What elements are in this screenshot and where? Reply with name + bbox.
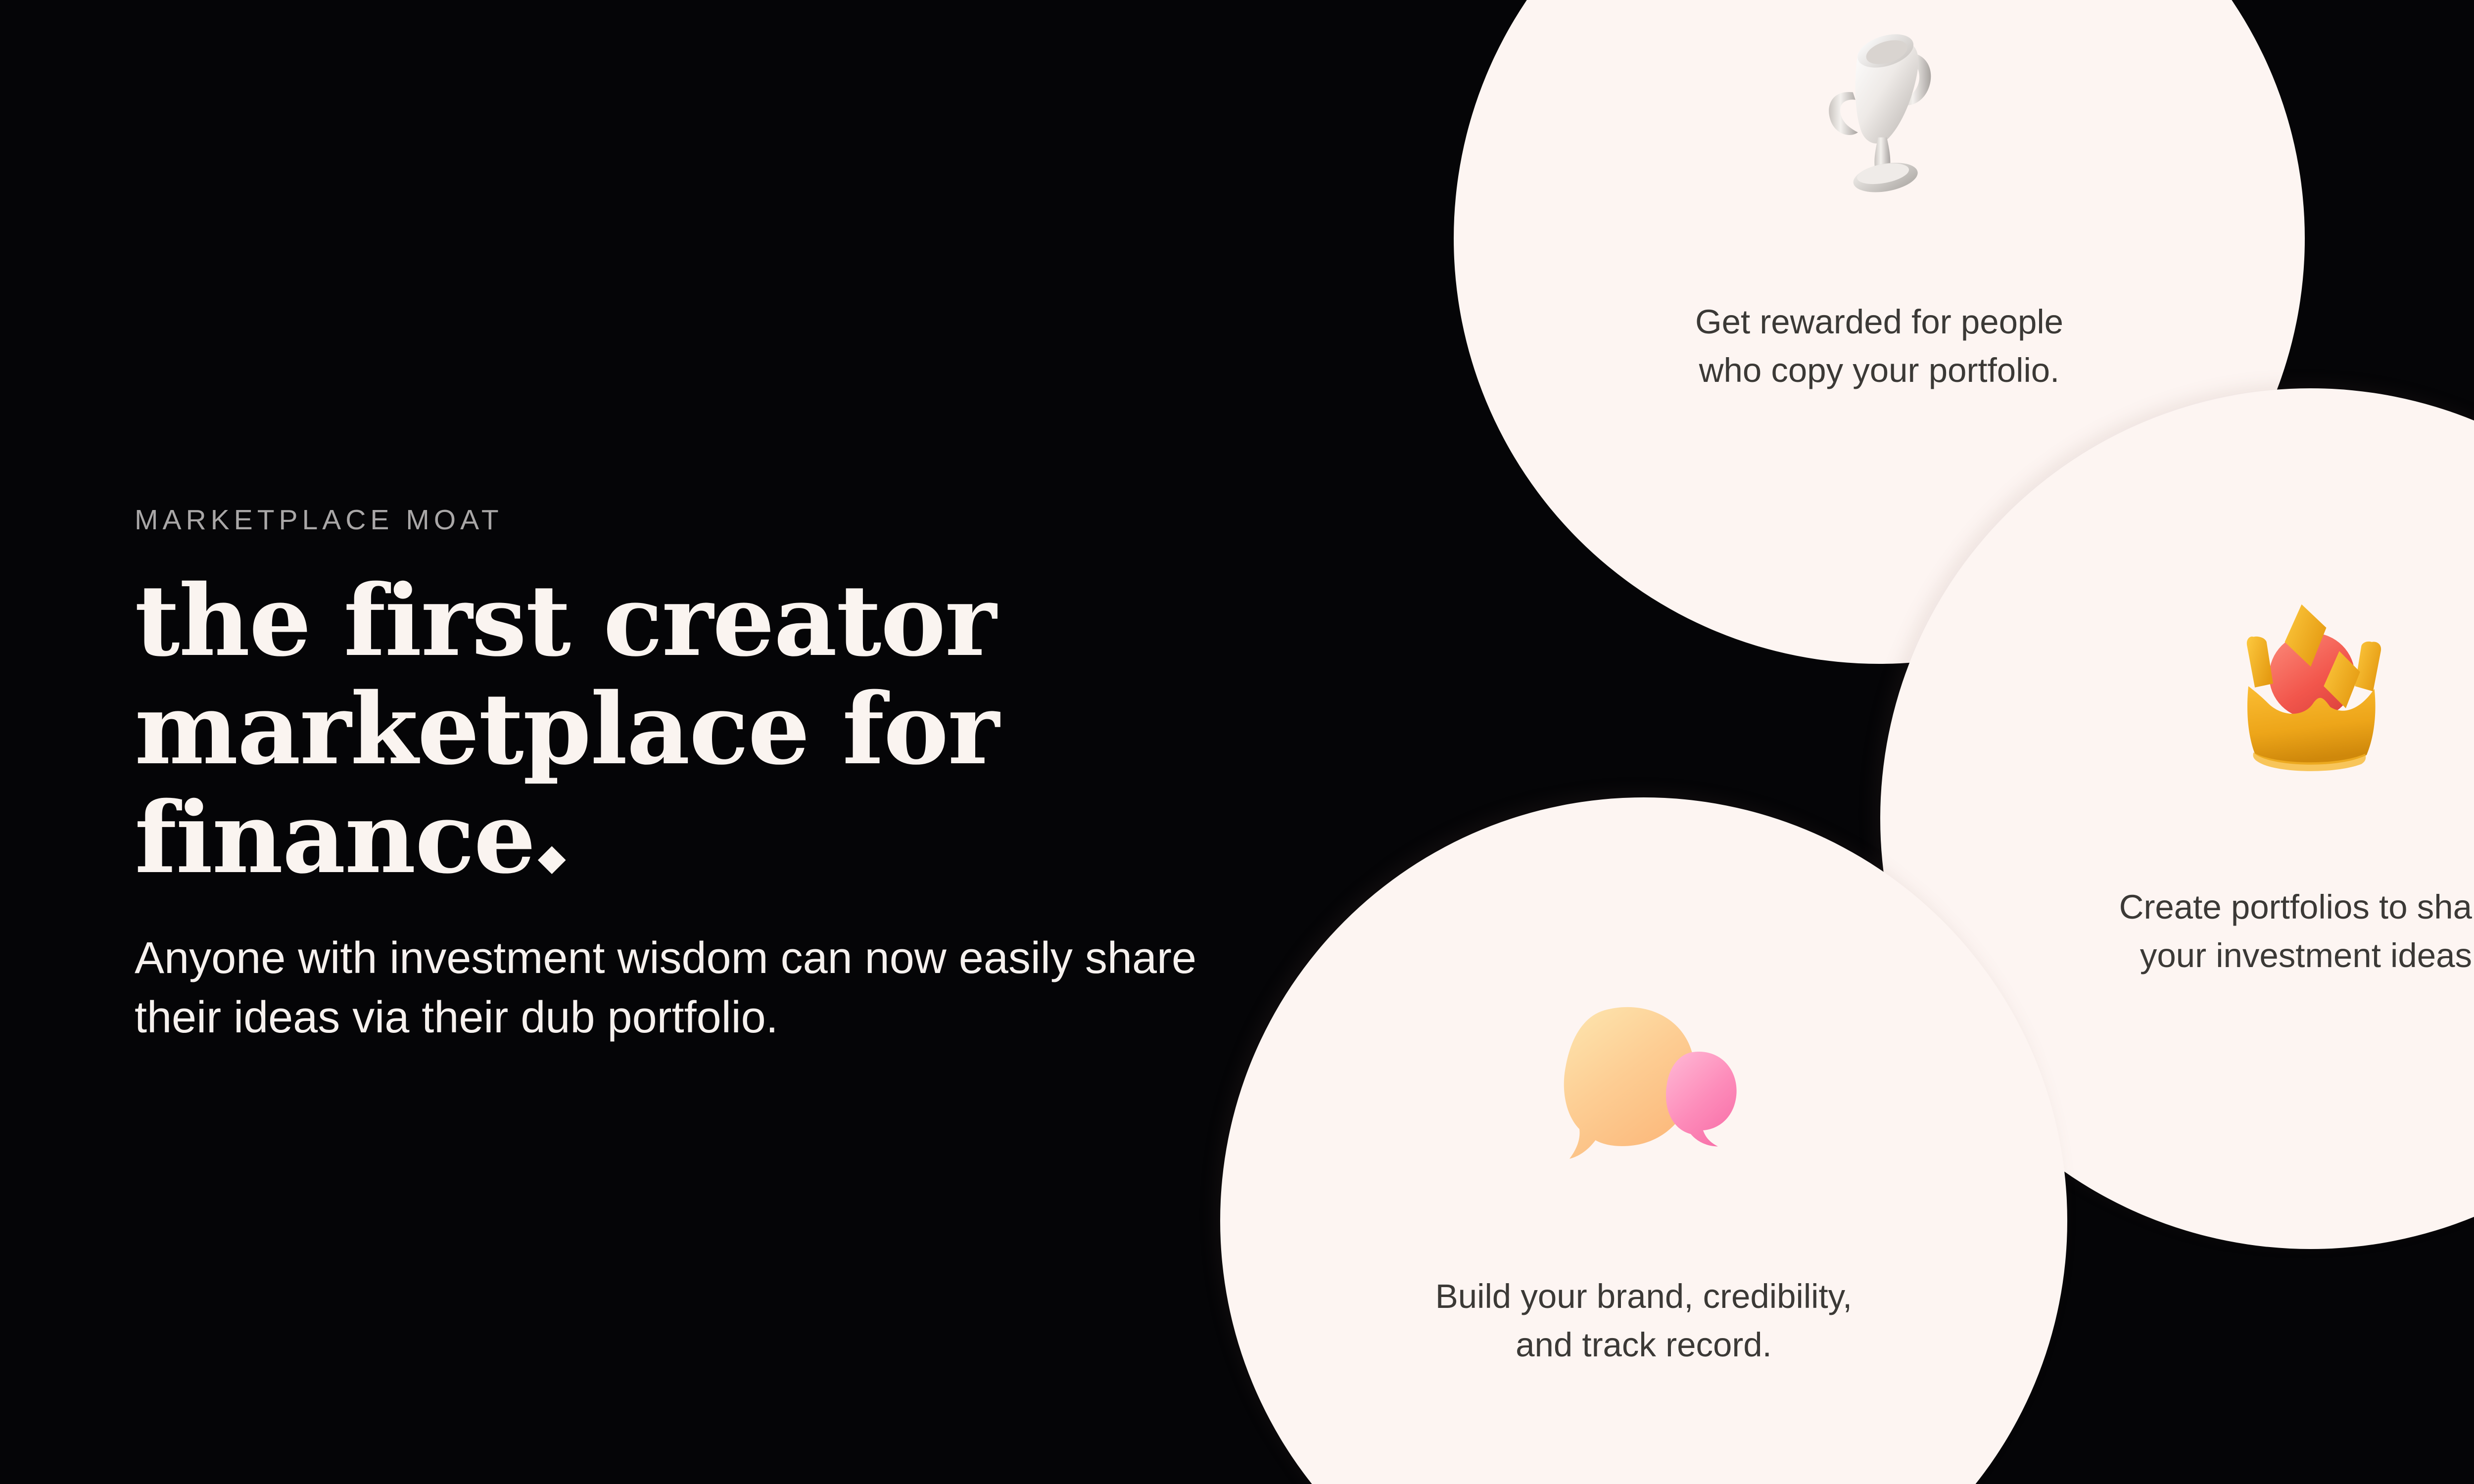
page-title: the first creator marketplace for financ…	[135, 566, 1154, 892]
bubble-caption-chat: Build your brand, credibility, and track…	[1288, 1272, 1999, 1369]
trophy-3d-icon	[1454, 6, 2305, 214]
caption-line-1: Build your brand, credibility,	[1435, 1277, 1852, 1315]
subcopy-text: Anyone with investment wisdom can now ea…	[135, 929, 1198, 1047]
headline-line-2: marketplace for finance	[135, 671, 999, 895]
caption-line-1: Create portfolios to share	[2119, 888, 2474, 926]
caption-line-1: Get rewarded for people	[1695, 303, 2063, 341]
bubble-caption-crown: Create portfolios to share your investme…	[1949, 883, 2474, 980]
crown-3d-icon	[1880, 586, 2474, 794]
bubble-caption-trophy: Get rewarded for people who copy your po…	[1522, 298, 2237, 395]
left-text-column: MARKETPLACE MOAT the first creator marke…	[135, 505, 1223, 1047]
eyebrow-label: MARKETPLACE MOAT	[135, 505, 1223, 536]
diamond-period-icon	[538, 846, 566, 875]
caption-line-2: your investment ideas.	[2140, 936, 2474, 974]
speech-bubbles-3d-icon	[1220, 985, 2067, 1193]
slide-canvas: MARKETPLACE MOAT the first creator marke…	[0, 0, 2474, 1484]
caption-line-2: and track record.	[1516, 1326, 1772, 1364]
headline-line-1: the first creator	[135, 563, 996, 678]
caption-line-2: who copy your portfolio.	[1699, 351, 2060, 389]
